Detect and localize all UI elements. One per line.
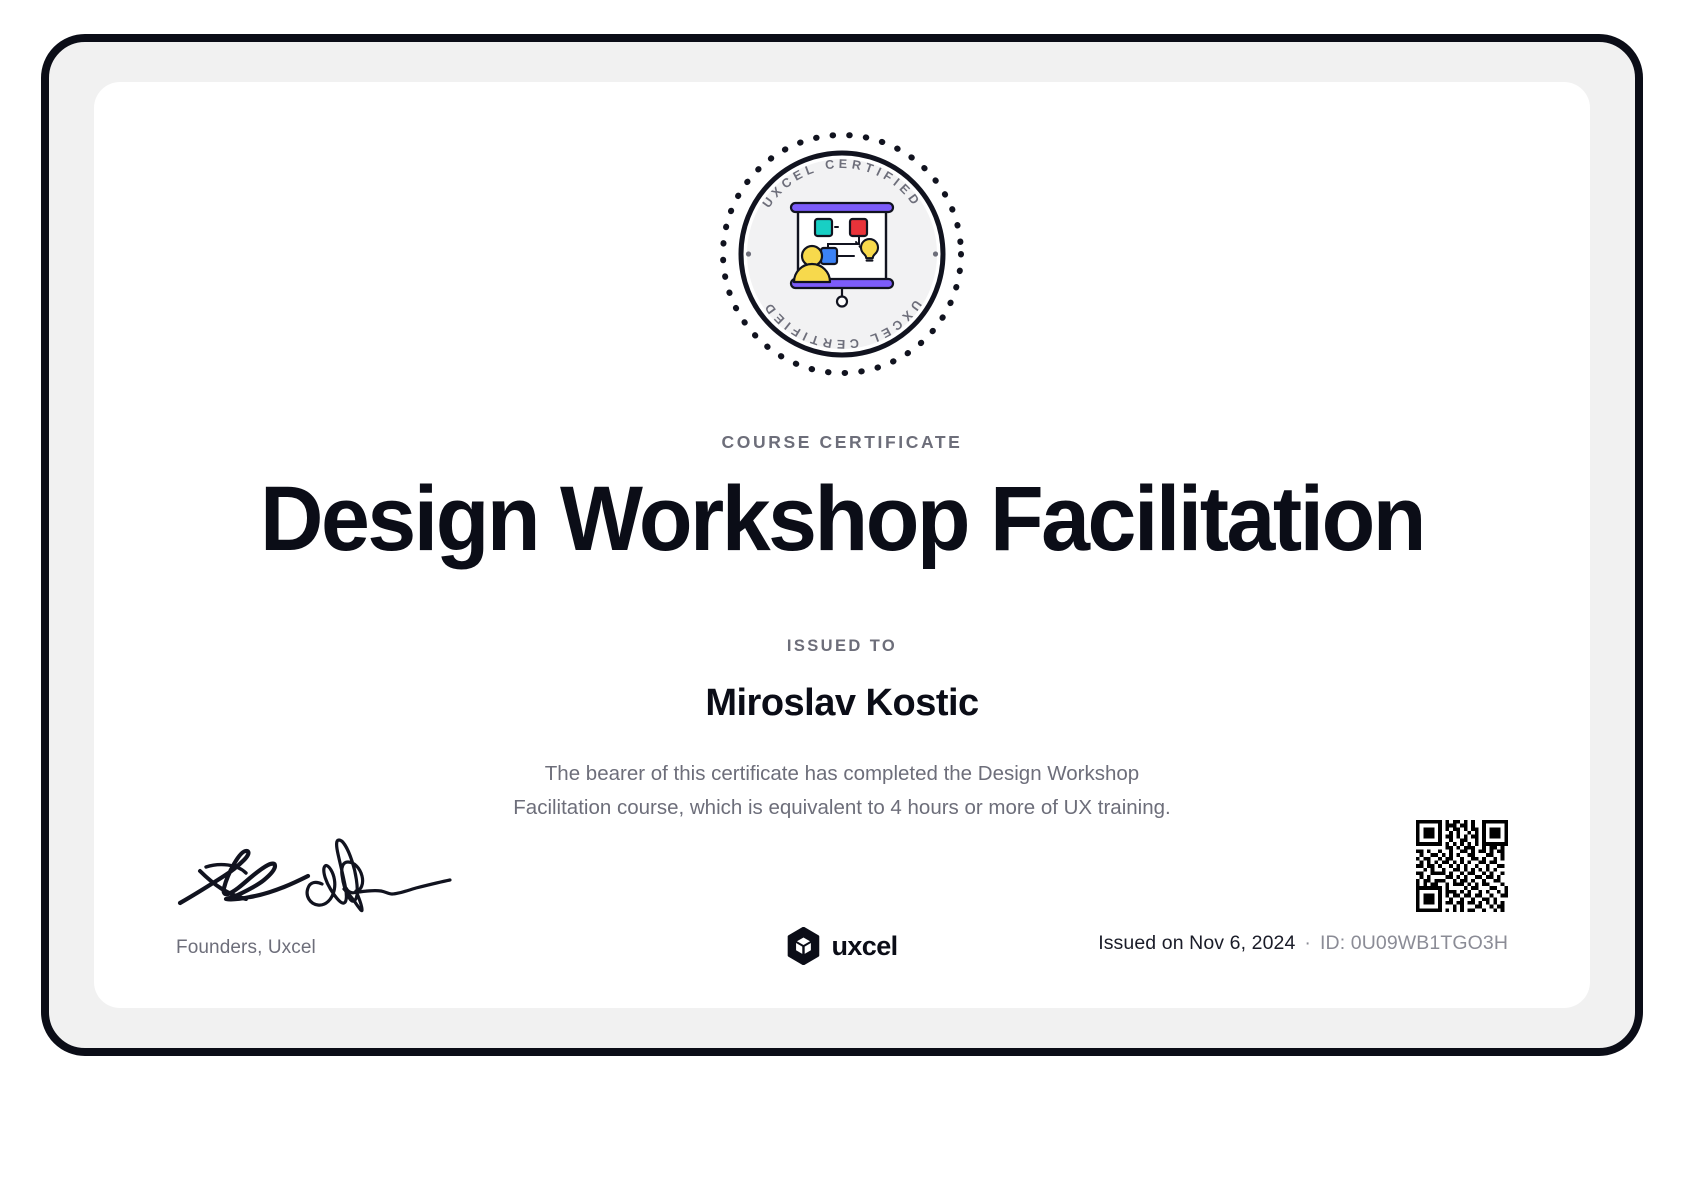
certificate-card: UXCEL CERTIFIED UXCEL CERTIFIED: [94, 82, 1590, 1008]
description-line-2: Facilitation course, which is equivalent…: [513, 796, 1170, 819]
certification-badge: UXCEL CERTIFIED UXCEL CERTIFIED: [716, 128, 968, 380]
recipient-name: Miroslav Kostic: [94, 679, 1590, 727]
uxcel-hexagon-cube-icon: [786, 927, 820, 965]
issued-on-date: Issued on Nov 6, 2024: [1098, 932, 1295, 954]
meta-separator: ·: [1295, 932, 1320, 954]
signature-caption: Founders, Uxcel: [176, 937, 316, 959]
certificate-title: Design Workshop Facilitation: [128, 467, 1557, 571]
description-line-1: The bearer of this certificate has compl…: [545, 762, 1139, 785]
sticky-note-blue: [821, 248, 837, 264]
certificate-kicker: COURSE CERTIFICATE: [94, 432, 1590, 453]
certificate-id: ID: 0U09WB1TGO3H: [1320, 932, 1508, 954]
issued-to-label: ISSUED TO: [94, 637, 1590, 656]
sticky-note-red: [850, 219, 867, 236]
sticky-note-teal: [815, 219, 832, 236]
uxcel-wordmark: uxcel: [831, 931, 897, 962]
certificate-meta: Issued on Nov 6, 2024·ID: 0U09WB1TGO3H: [1098, 932, 1508, 955]
certificate-description: The bearer of this certificate has compl…: [422, 757, 1262, 825]
uxcel-brand: uxcel: [786, 927, 897, 965]
founder-signatures: [176, 837, 476, 917]
certificate-frame: UXCEL CERTIFIED UXCEL CERTIFIED: [41, 34, 1643, 1056]
verification-qr-code[interactable]: [1416, 820, 1508, 912]
